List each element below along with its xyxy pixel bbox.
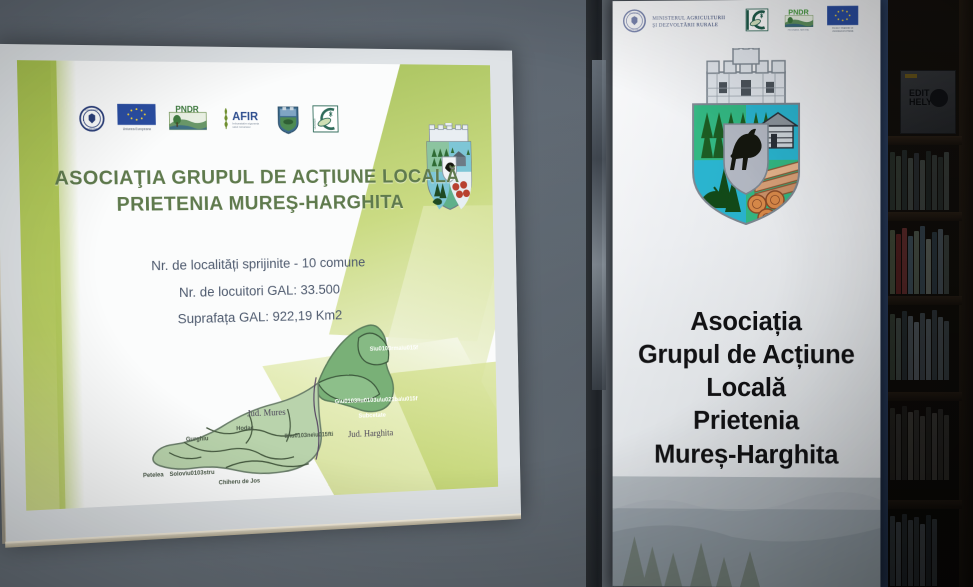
gal-territory-map: S\u0103rma\u015f G\u0103l\u0103u\u021ba\… (125, 320, 458, 510)
svg-text:Uniunea Europeana: Uniunea Europeana (123, 127, 151, 131)
book (932, 232, 937, 294)
book (926, 319, 931, 380)
book (908, 158, 913, 210)
book (902, 228, 907, 294)
bookshelf-side-panel (959, 0, 973, 587)
shelf-grey-box: EDIT HELY (900, 70, 956, 134)
svg-text:ROMANIEI: ROMANIEI (86, 127, 98, 130)
shelf-plank (888, 212, 962, 221)
svg-text:satul romanesc: satul romanesc (232, 125, 251, 129)
book (944, 415, 949, 480)
book (908, 412, 913, 480)
book (944, 321, 949, 380)
book (938, 409, 943, 480)
book-row (890, 308, 960, 380)
book (902, 514, 907, 586)
book (908, 316, 913, 380)
svg-text:PNDR: PNDR (175, 104, 199, 114)
book (902, 311, 907, 380)
slide-title-line-2: PRIETENIA MUREŞ-HARGHITA (39, 189, 473, 219)
svg-text:GUVERNUL: GUVERNUL (85, 108, 98, 111)
rollup-banner: GUVERNUL ROMANIEI MINISTERUL AGRICULTURI… (613, 0, 881, 587)
shelf-box-tab (905, 74, 917, 78)
svg-text:Hodac: Hodac (236, 425, 254, 433)
book (914, 231, 919, 294)
book (902, 150, 907, 210)
slide-title: ASOCIAŢIA GRUPUL DE ACŢIUNE LOCALĂ PRIET… (39, 163, 474, 218)
book (932, 310, 937, 380)
svg-text:S\u0103rma\u015f: S\u0103rma\u015f (370, 345, 419, 353)
book (932, 413, 937, 480)
svg-text:Subcetate: Subcetate (358, 412, 386, 420)
svg-text:Jud. Mures: Jud. Mures (247, 408, 286, 419)
svg-text:AFIR: AFIR (232, 109, 259, 123)
book (896, 318, 901, 380)
book (896, 234, 901, 294)
svg-text:Jud. Harghita: Jud. Harghita (348, 429, 394, 440)
projection-screen: GUVERNUL ROMANIEI Uniunea Europeana (0, 44, 521, 544)
shelf-plank (888, 296, 962, 305)
book (938, 229, 943, 294)
book (914, 322, 919, 380)
svg-text:Petelea: Petelea (143, 471, 164, 479)
book (920, 524, 925, 586)
bookshelf: EDIT HELY (888, 0, 973, 587)
book (890, 408, 895, 480)
guvernul-romaniei-seal-icon: GUVERNUL ROMANIEI (79, 102, 106, 134)
book (908, 236, 913, 294)
book (914, 410, 919, 480)
shelf-box-label-line-2: HELY (909, 98, 932, 107)
presentation-slide: GUVERNUL ROMANIEI Uniunea Europeana (17, 60, 498, 511)
photo-scene: GUVERNUL ROMANIEI Uniunea Europeana (0, 0, 973, 587)
book (938, 157, 943, 210)
pndr-logo-icon: PNDR (168, 103, 208, 134)
svg-text:Chiheru de Jos: Chiheru de Jos (219, 478, 261, 487)
book-row (890, 148, 960, 210)
door-glass-pane (592, 60, 606, 390)
book (932, 155, 937, 210)
book (896, 522, 901, 586)
slide-logo-strip: GUVERNUL ROMANIEI Uniunea Europeana (78, 98, 395, 138)
book (920, 160, 925, 210)
book (944, 152, 949, 210)
uniunea-europeana-flag-icon: Uniunea Europeana (117, 103, 156, 135)
book (926, 239, 931, 294)
shelf-box-circle (930, 89, 948, 107)
book (938, 317, 943, 380)
shelf-plank (888, 500, 962, 509)
book (896, 156, 901, 210)
book (914, 153, 919, 210)
book (920, 416, 925, 480)
book (902, 406, 907, 480)
book (890, 152, 895, 210)
consiliul-judetean-crest-icon (276, 103, 300, 134)
book (932, 519, 937, 586)
book-row (890, 404, 960, 480)
book (890, 314, 895, 380)
leader-logo-icon: LEADER (312, 104, 340, 135)
shelf-plank (888, 136, 962, 145)
slide-title-line-1: ASOCIAŢIA GRUPUL DE ACŢIUNE LOCALĂ (39, 163, 473, 191)
svg-text:Gurghiu: Gurghiu (186, 435, 209, 443)
book-row (890, 512, 960, 586)
shelf-plank (888, 392, 962, 401)
book-row (890, 224, 960, 294)
book (920, 313, 925, 380)
book (890, 516, 895, 586)
svg-text:Ib\u0103ne\u015fti: Ib\u0103ne\u015fti (284, 431, 333, 440)
banner-sheen (613, 0, 881, 587)
book (908, 520, 913, 586)
book (920, 226, 925, 294)
book (926, 151, 931, 210)
book (896, 414, 901, 480)
svg-text:Solov\u0103stru: Solov\u0103stru (170, 469, 215, 478)
book (926, 407, 931, 480)
book (944, 235, 949, 294)
svg-text:LEADER: LEADER (313, 118, 317, 129)
afir-logo-icon: AFIR Imbunatatim siguranta satul romanes… (219, 103, 264, 134)
book (914, 517, 919, 586)
book (890, 230, 895, 294)
shelf-box-label: EDIT HELY (909, 89, 932, 107)
book (926, 515, 931, 586)
